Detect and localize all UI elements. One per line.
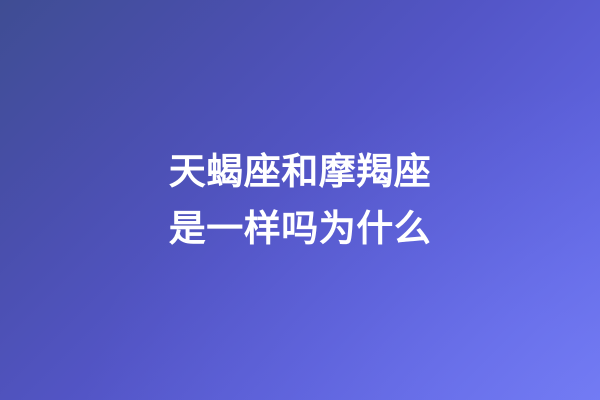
title-line-2: 是一样吗为什么 [169,200,432,257]
title-block: 天蝎座和摩羯座 是一样吗为什么 [0,143,600,257]
title-card: 天蝎座和摩羯座 是一样吗为什么 [0,0,600,400]
title-line-1: 天蝎座和摩羯座 [169,143,432,200]
